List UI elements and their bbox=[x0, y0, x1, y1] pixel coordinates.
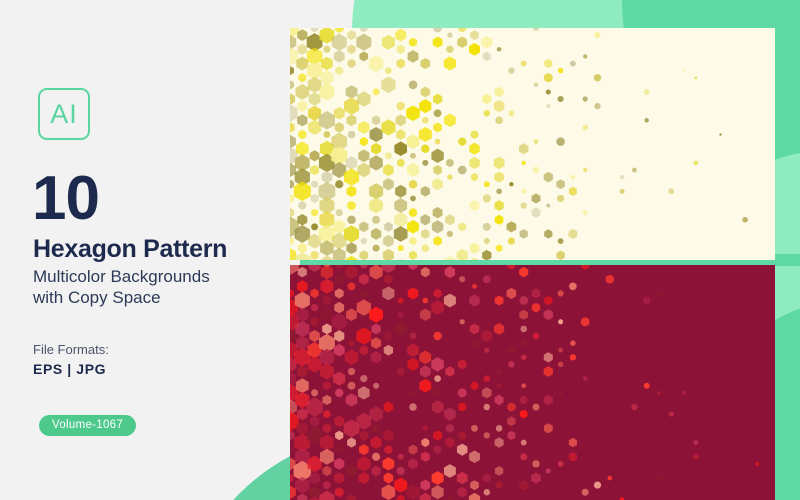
page-subtitle-line-1: Multicolor Backgrounds bbox=[33, 266, 283, 287]
ai-format-badge-label: AI bbox=[50, 101, 78, 128]
red-hexagon-pattern bbox=[290, 265, 775, 500]
page-subtitle-line-2: with Copy Space bbox=[33, 287, 283, 308]
file-formats-label: File Formats: bbox=[33, 342, 109, 357]
yellow-hexagon-pattern bbox=[290, 28, 775, 260]
volume-badge: Volume-1067 bbox=[39, 415, 136, 436]
red-hexagon-preview[interactable] bbox=[290, 265, 775, 500]
page-subtitle: Multicolor Backgrounds with Copy Space bbox=[33, 266, 283, 309]
poster-canvas: AI 10 Hexagon Pattern Multicolor Backgro… bbox=[0, 0, 800, 500]
file-formats-value: EPS | JPG bbox=[33, 361, 106, 377]
product-count: 10 bbox=[32, 168, 99, 230]
page-title: Hexagon Pattern bbox=[33, 236, 227, 262]
yellow-hexagon-preview[interactable] bbox=[290, 28, 775, 260]
ai-format-badge: AI bbox=[38, 88, 90, 140]
